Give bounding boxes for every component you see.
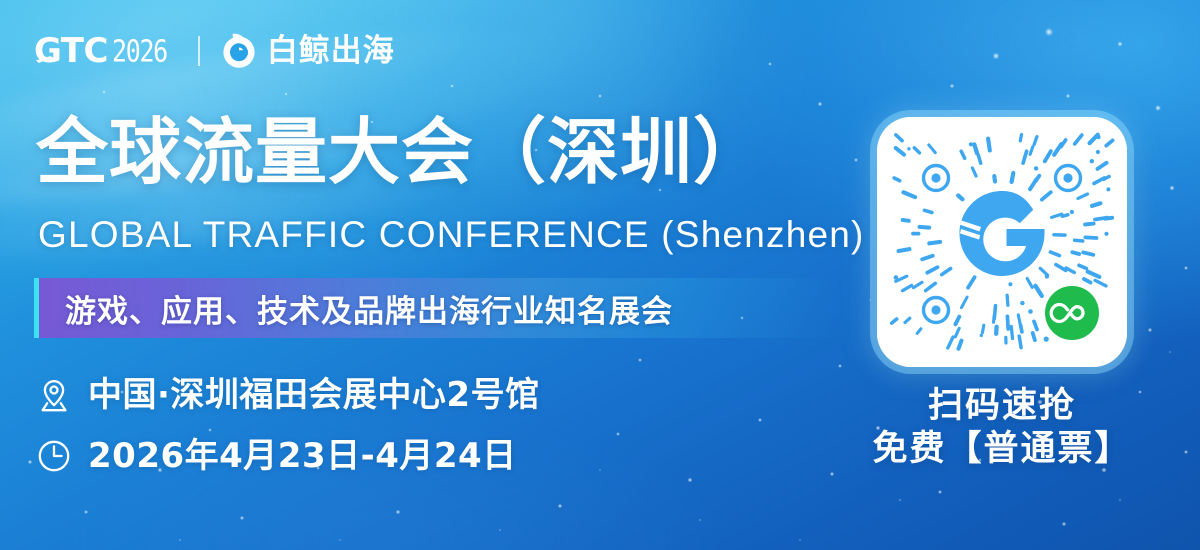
gtc-wordmark: GTC <box>34 34 108 68</box>
location-pin-icon <box>36 377 72 413</box>
cta-block: 扫码速抢 免费【普通票】 <box>862 385 1142 472</box>
gtc-letters: GTC <box>34 31 108 71</box>
tagline-accent-bar <box>34 278 39 338</box>
cta-line-2: 免费【普通票】 <box>862 428 1142 471</box>
tagline-text: 游戏、应用、技术及品牌出海行业知名展会 <box>65 286 673 331</box>
brand-logo-row: GTC 2026 白鲸出海 <box>34 30 395 72</box>
wechat-miniprogram-qr[interactable] <box>877 117 1127 367</box>
page-title-cn: 全球流量大会（深圳） <box>36 112 766 193</box>
clock-icon <box>36 438 72 474</box>
event-banner: GTC 2026 白鲸出海 全球流量大会（深圳） GLOBAL TRAFFIC … <box>0 0 1200 550</box>
water-highlight-6 <box>40 410 740 550</box>
cta-line-1: 扫码速抢 <box>862 385 1142 428</box>
whale-g-circle-icon <box>220 32 258 70</box>
qr-code-card[interactable] <box>877 117 1127 367</box>
venue-text: 中国·深圳福田会展中心2号馆 <box>88 378 540 412</box>
tagline-band: 游戏、应用、技术及品牌出海行业知名展会 <box>34 278 834 338</box>
logo-divider <box>198 36 200 66</box>
page-title-en: GLOBAL TRAFFIC CONFERENCE (Shenzhen) <box>38 215 865 256</box>
date-info: 2026年4月23日-4月24日 <box>36 438 517 474</box>
brand-name: 白鲸出海 <box>267 36 395 67</box>
date-text: 2026年4月23日-4月24日 <box>88 439 517 473</box>
gtc-year: 2026 <box>112 36 167 66</box>
venue-info: 中国·深圳福田会展中心2号馆 <box>36 377 540 413</box>
miniprogram-badge-icon <box>1045 286 1099 340</box>
